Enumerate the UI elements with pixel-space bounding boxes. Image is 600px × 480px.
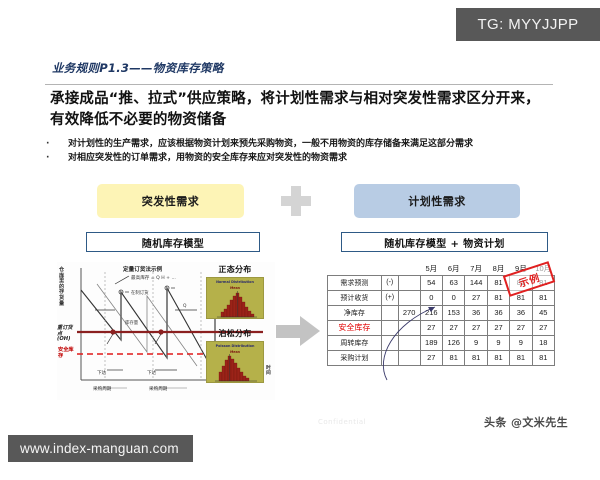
row-opening	[398, 275, 420, 290]
author-credit: 头条 @文米先生	[484, 414, 568, 430]
row-opening	[398, 320, 420, 335]
row-label: 采购计划	[328, 350, 382, 365]
site-url-badge: www.index-manguan.com	[8, 435, 193, 462]
header-spacer	[328, 262, 382, 275]
diagram-note-reorder-a: 在制订货	[131, 290, 149, 296]
center-watermark: Confidential	[318, 418, 366, 426]
row-opening	[398, 350, 420, 365]
table-cell: 54	[420, 275, 442, 290]
planned-demand-box: 计划性需求	[354, 184, 520, 218]
column-header-month: 7月	[465, 262, 487, 275]
normal-distribution-title: 正态分布	[206, 264, 264, 275]
row-sign	[381, 320, 398, 335]
table-cell: 81	[465, 350, 487, 365]
tg-watermark-badge: TG: MYYJJPP	[456, 8, 600, 41]
column-header-month: 6月	[443, 262, 465, 275]
table-cell: 27	[487, 320, 509, 335]
column-header-month: 5月	[420, 262, 442, 275]
model-box-right: 随机库存模型 + 物资计划	[341, 232, 548, 252]
title-divider	[45, 84, 553, 85]
table-cell: 27	[510, 320, 532, 335]
plus-icon	[281, 186, 311, 216]
diagram-tick-cycle-b: 采购周期	[149, 386, 167, 392]
row-sign	[381, 335, 398, 350]
diagram-note-q: Q	[183, 304, 186, 309]
table-cell: 63	[443, 275, 465, 290]
table-cell: 0	[443, 290, 465, 305]
poisson-distribution-block: 泊松分布 Poisson Distribution Mean	[206, 328, 264, 383]
table-cell: 144	[465, 275, 487, 290]
header-opening-spacer	[398, 262, 420, 275]
table-cell: 27	[420, 320, 442, 335]
bullet-list: · 对计划性的生产需求，应该根据物资计划来预先采购物资，一般不用物资的库存储备来…	[46, 138, 556, 166]
table-row: 安全库存 27 27 27 27 27 27	[328, 320, 555, 335]
table-cell: 81	[487, 290, 509, 305]
table-cell: 81	[510, 350, 532, 365]
table-cell: 45	[532, 305, 554, 320]
bullet-marker-icon: ·	[46, 138, 68, 152]
diagram-tick-issue-a: 下达	[97, 370, 106, 376]
table-cell: 153	[443, 305, 465, 320]
row-label: 需求预测	[328, 275, 382, 290]
table-cell: 126	[443, 335, 465, 350]
table-cell: 36	[465, 305, 487, 320]
row-sign	[381, 305, 398, 320]
burst-demand-box: 突发性需求	[97, 184, 244, 218]
table-cell: 81	[443, 350, 465, 365]
table-cell: 27	[443, 320, 465, 335]
row-opening	[398, 335, 420, 350]
table-cell: 81	[532, 290, 554, 305]
row-sign: (-)	[381, 275, 398, 290]
table-cell: 216	[420, 305, 442, 320]
header-sign-spacer	[381, 262, 398, 275]
bullet-text: 对计划性的生产需求，应该根据物资计划来预先采购物资，一般不用物资的库存储备来满足…	[68, 138, 473, 152]
normal-distribution-block: 正态分布 Normal Distribution Mean	[206, 264, 264, 319]
table-cell: 81	[532, 350, 554, 365]
table-cell: 36	[487, 305, 509, 320]
normal-distribution-image: Normal Distribution Mean	[206, 277, 264, 319]
table-row: 采购计划 27 81 81 81 81 81	[328, 350, 555, 365]
table-cell: 27	[532, 320, 554, 335]
table-cell: 189	[420, 335, 442, 350]
row-opening: 270	[398, 305, 420, 320]
table-cell: 0	[420, 290, 442, 305]
poisson-distribution-title: 泊松分布	[206, 328, 264, 339]
diagram-tick-issue-b: 下达	[147, 370, 156, 376]
table-cell: 27	[465, 290, 487, 305]
row-label-safety-stock: 安全库存	[328, 320, 382, 335]
table-row: 净库存 270 216 153 36 36 36 45	[328, 305, 555, 320]
row-label: 预计收货	[328, 290, 382, 305]
table-cell: 9	[487, 335, 509, 350]
row-sign	[381, 350, 398, 365]
row-label: 周转库存	[328, 335, 382, 350]
slide-subtitle: 业务规则P1.3——物资库存策略	[52, 60, 224, 76]
table-cell: 36	[510, 305, 532, 320]
table-cell: 18	[532, 335, 554, 350]
row-opening	[398, 290, 420, 305]
table-cell: 9	[510, 335, 532, 350]
list-item: · 对计划性的生产需求，应该根据物资计划来预先采购物资，一般不用物资的库存储备来…	[46, 138, 556, 152]
page-title: 承接成品“推、拉式”供应策略，将计划性需求与相对突发性需求区分开来，有效降低不必…	[50, 89, 550, 131]
table-row: 周转库存 189 126 9 9 9 18	[328, 335, 555, 350]
table-cell: 27	[465, 320, 487, 335]
list-item: · 对相应突发性的订单需求，用物资的安全库存来应对突发性的物资需求	[46, 152, 556, 166]
poisson-distribution-image: Poisson Distribution Mean	[206, 341, 264, 383]
diagram-tick-cycle-a: 采购周期	[93, 386, 111, 392]
bullet-marker-icon: ·	[46, 152, 68, 166]
table-cell: 81	[487, 350, 509, 365]
table-cell: 9	[465, 335, 487, 350]
bullet-text: 对相应突发性的订单需求，用物资的安全库存来应对突发性的物资需求	[68, 152, 347, 166]
row-label: 净库存	[328, 305, 382, 320]
row-sign: (+)	[381, 290, 398, 305]
table-cell: 27	[420, 350, 442, 365]
model-box-left: 随机库存模型	[86, 232, 260, 252]
column-header-month: 8月	[487, 262, 509, 275]
flow-arrow-icon	[276, 316, 320, 346]
diagram-note-stock: 库存量	[125, 320, 138, 326]
